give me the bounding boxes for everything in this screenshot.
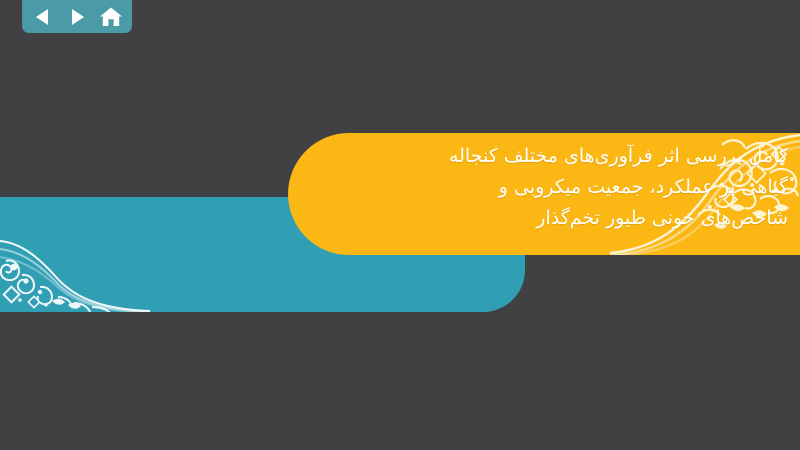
triangle-right-icon (68, 7, 86, 27)
next-button[interactable] (63, 4, 91, 30)
navigation-bar (22, 0, 132, 33)
arabesque-ornament-icon (0, 197, 150, 312)
home-button[interactable] (97, 4, 125, 30)
home-icon (99, 6, 123, 28)
previous-button[interactable] (29, 4, 57, 30)
triangle-left-icon (34, 7, 52, 27)
slide-title: کامل بررسی اثر فرآوری‌های مختلف کنجاله گ… (318, 141, 788, 234)
presentation-slide: کامل بررسی اثر فرآوری‌های مختلف کنجاله گ… (0, 0, 800, 450)
orange-title-panel: کامل بررسی اثر فرآوری‌های مختلف کنجاله گ… (288, 133, 800, 255)
